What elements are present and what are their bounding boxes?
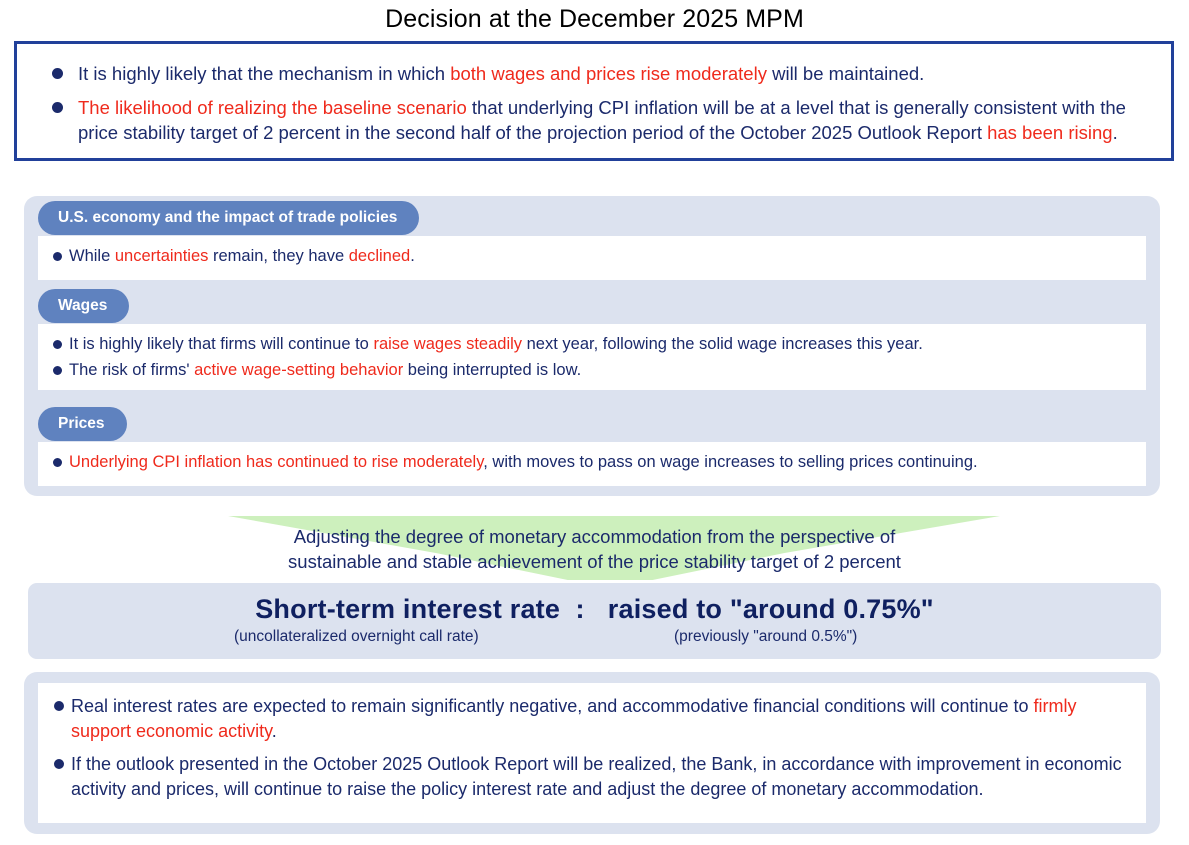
key-judgement-box: It is highly likely that the mechanism i… — [14, 41, 1174, 161]
section-content-wages: It is highly likely that firms will cont… — [38, 324, 1146, 390]
bullet-icon — [53, 458, 62, 467]
list-item: It is highly likely that firms will cont… — [48, 333, 1136, 356]
bullet-icon — [53, 252, 62, 261]
bullet-icon — [53, 340, 62, 349]
section-content-prices: Underlying CPI inflation has continued t… — [38, 442, 1146, 486]
list-item: Underlying CPI inflation has continued t… — [48, 451, 1136, 474]
section-pill-wages: Wages — [38, 289, 129, 323]
policy-direction-callout: Adjusting the degree of monetary accommo… — [0, 512, 1189, 580]
list-item-text: If the outlook presented in the October … — [71, 752, 1132, 802]
list-item: Real interest rates are expected to rema… — [48, 694, 1132, 744]
rate-definition-note: (uncollateralized overnight call rate) — [234, 628, 479, 646]
bullet-icon — [54, 759, 64, 769]
outlook-panel: Real interest rates are expected to rema… — [24, 672, 1160, 834]
previous-rate-note: (previously "around 0.5%") — [674, 628, 857, 646]
page-title: Decision at the December 2025 MPM — [0, 0, 1189, 35]
list-item-text: The likelihood of realizing the baseline… — [78, 95, 1155, 145]
interest-rate-headline: Short-term interest rate : raised to "ar… — [28, 583, 1161, 626]
list-item-text: Real interest rates are expected to rema… — [71, 694, 1132, 744]
bullet-icon — [54, 701, 64, 711]
interest-rate-decision-box: Short-term interest rate : raised to "ar… — [28, 583, 1161, 659]
bullet-icon — [52, 68, 63, 79]
list-item: The risk of firms' active wage-setting b… — [48, 359, 1136, 382]
bullet-icon — [52, 102, 63, 113]
outlook-content: Real interest rates are expected to rema… — [38, 683, 1146, 823]
section-pill-prices: Prices — [38, 407, 127, 441]
list-item-text: The risk of firms' active wage-setting b… — [69, 359, 1136, 382]
interest-rate-subnotes: (uncollateralized overnight call rate) (… — [28, 626, 1161, 650]
list-item-text: While uncertainties remain, they have de… — [69, 245, 1136, 268]
policy-direction-text: Adjusting the degree of monetary accommo… — [0, 524, 1189, 574]
policy-direction-line-1: Adjusting the degree of monetary accommo… — [0, 524, 1189, 549]
bullet-icon — [53, 366, 62, 375]
list-item: It is highly likely that the mechanism i… — [31, 61, 1155, 86]
section-pill-us-economy: U.S. economy and the impact of trade pol… — [38, 201, 419, 235]
assessment-panel: U.S. economy and the impact of trade pol… — [24, 196, 1160, 496]
section-content-us-economy: While uncertainties remain, they have de… — [38, 236, 1146, 280]
list-item: If the outlook presented in the October … — [48, 752, 1132, 802]
list-item-text: It is highly likely that the mechanism i… — [78, 61, 1155, 86]
list-item-text: Underlying CPI inflation has continued t… — [69, 451, 1136, 474]
list-item: While uncertainties remain, they have de… — [48, 245, 1136, 268]
list-item: The likelihood of realizing the baseline… — [31, 95, 1155, 145]
list-item-text: It is highly likely that firms will cont… — [69, 333, 1136, 356]
policy-direction-line-2: sustainable and stable achievement of th… — [0, 549, 1189, 574]
